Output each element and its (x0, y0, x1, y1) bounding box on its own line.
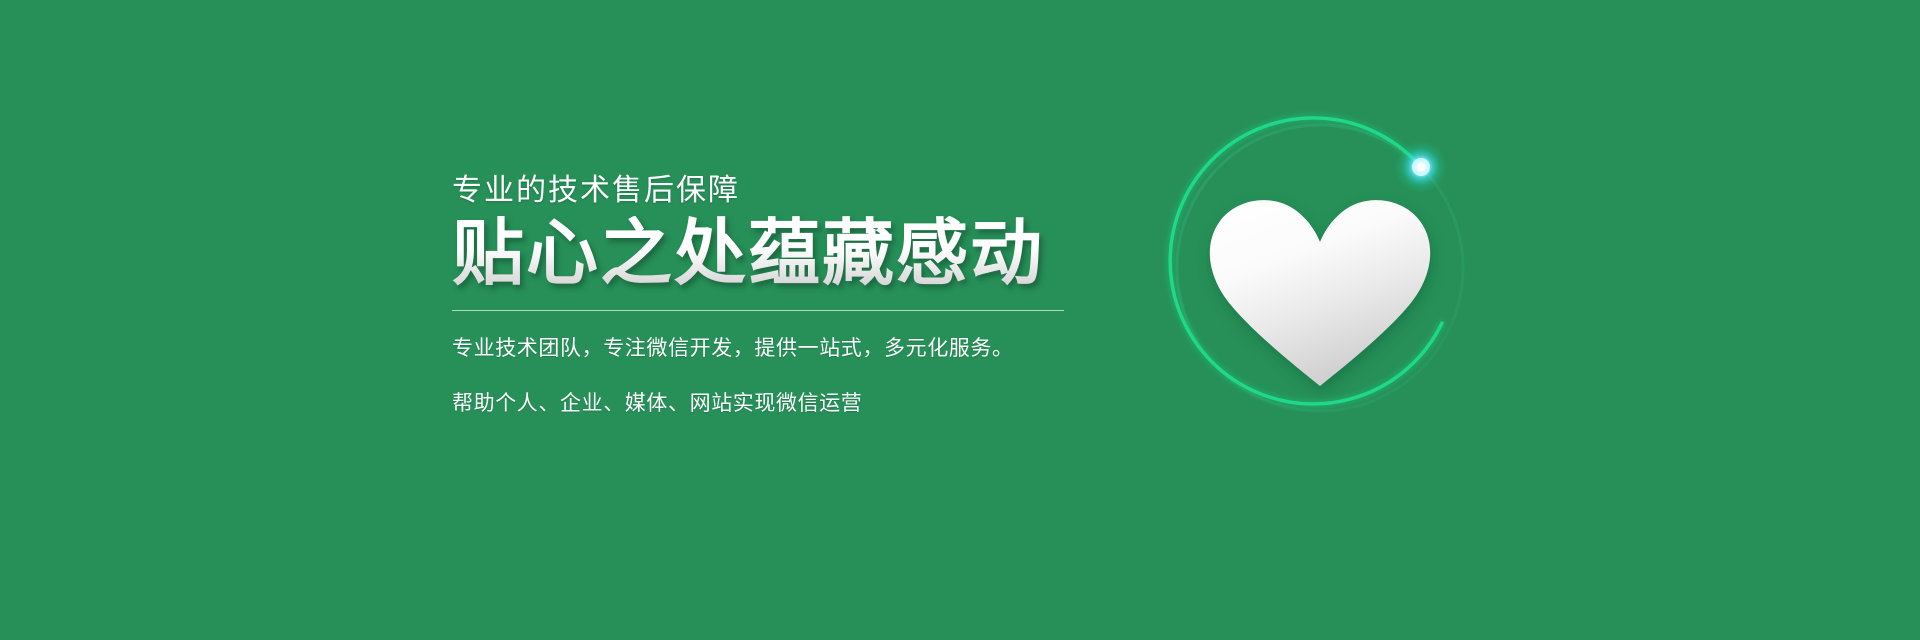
glow-dot (1395, 141, 1447, 193)
banner-headline: 贴心之处蕴藏感动 (452, 216, 1112, 292)
banner-text-block: 专业的技术售后保障 贴心之处蕴藏感动 专业技术团队，专注微信开发，提供一站式，多… (452, 176, 1112, 442)
divider (452, 310, 1064, 311)
banner-body-line-1: 专业技术团队，专注微信开发，提供一站式，多元化服务。 (452, 332, 1112, 366)
heart-icon (1210, 200, 1430, 386)
banner-graphic (1160, 108, 1480, 428)
promo-banner: 专业的技术售后保障 贴心之处蕴藏感动 专业技术团队，专注微信开发，提供一站式，多… (0, 0, 1920, 640)
heart-ring-illustration (1160, 108, 1480, 428)
banner-subtitle: 专业的技术售后保障 (452, 176, 1112, 206)
banner-body-line-2: 帮助个人、企业、媒体、网站实现微信运营 (452, 387, 1112, 421)
